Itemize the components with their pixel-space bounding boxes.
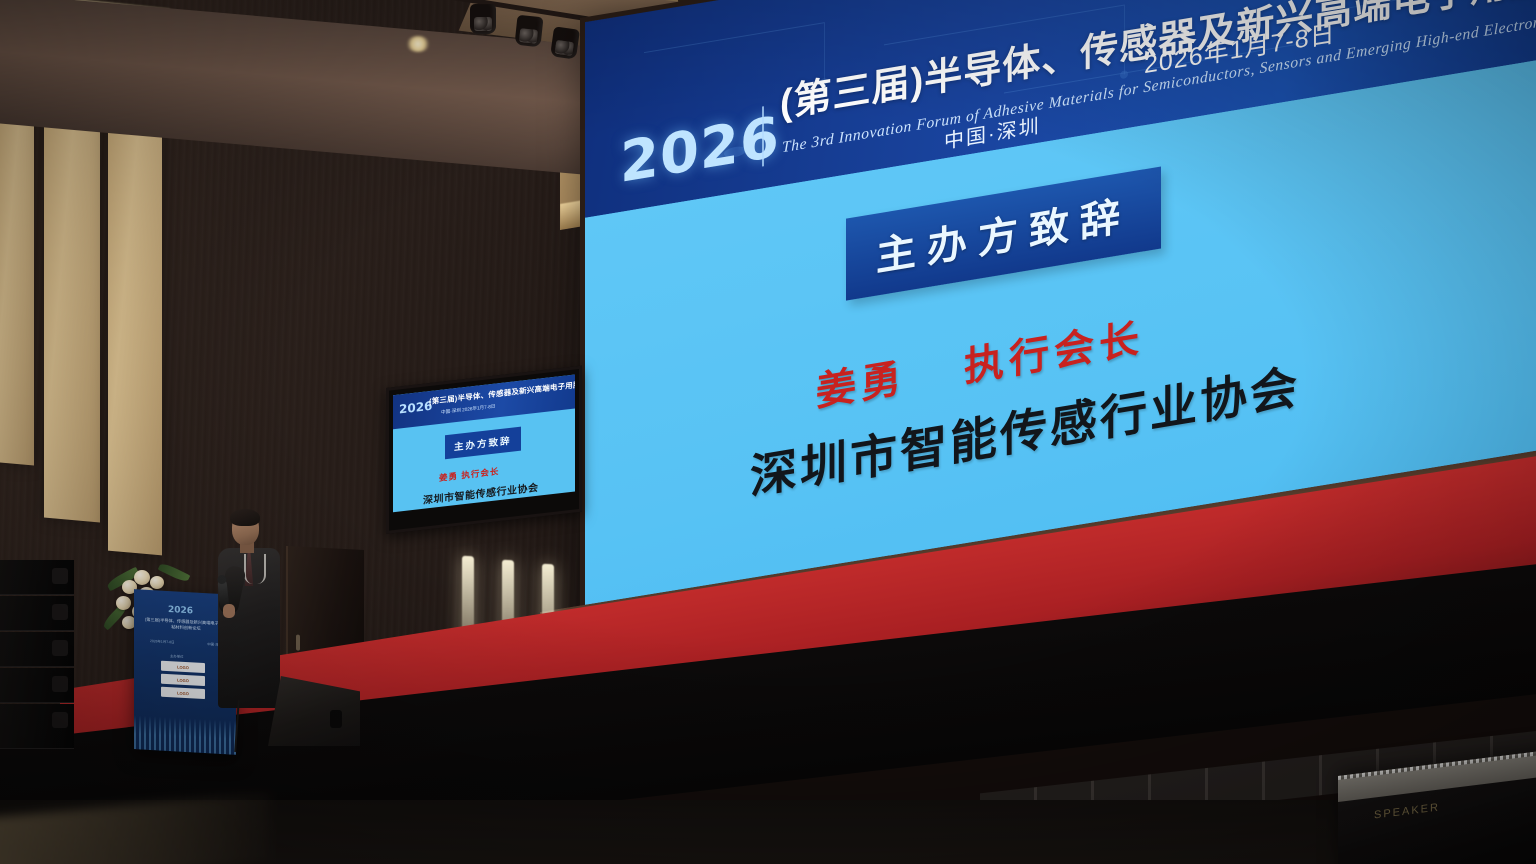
- stage-light-fixture: [515, 15, 544, 48]
- side-monitor-badge-label: 主办方致辞: [454, 436, 512, 454]
- slide-speaker-name: 姜勇: [816, 345, 906, 418]
- podium-meta: 2026年1月7-8日 中国·深圳: [150, 638, 222, 647]
- podium-sponsor-label: 主办单位: [170, 653, 184, 659]
- sponsor-logo: LOGO: [161, 687, 205, 699]
- banner-year: 2026: [620, 105, 780, 196]
- side-monitor-badge: 主办方致辞: [445, 427, 521, 460]
- side-monitor-display: 2026 (第三届)半导体、传感器及新兴高端电子用胶粘材料创新论坛 中国·深圳 …: [386, 366, 582, 534]
- banner-divider: [762, 106, 764, 166]
- side-monitor-speaker: 姜勇 执行会长: [439, 465, 499, 484]
- podium-meta-date: 2026年1月7-8日: [150, 638, 175, 644]
- conference-stage-photo: 2026 (第三届)半导体、传感器及新兴高端电子用胶粘材料创新论坛 The 3r…: [0, 0, 1536, 864]
- speaker-brand-badge: SPEAKER: [1374, 801, 1440, 821]
- door-handle-icon: [296, 634, 300, 650]
- monitor-wedge-handle-icon: [330, 710, 342, 728]
- presenter-lanyard: [244, 554, 266, 584]
- podium-sponsor-logos: LOGO LOGO LOGO: [161, 661, 205, 699]
- side-monitor-screen: 2026 (第三届)半导体、传感器及新兴高端电子用胶粘材料创新论坛 中国·深圳 …: [393, 374, 575, 512]
- presenter-hair: [230, 509, 260, 526]
- slide-badge: 主办方致辞: [846, 166, 1161, 300]
- stage-light-fixture: [550, 26, 580, 59]
- podium-year: 2026: [168, 605, 193, 616]
- downlight-icon: [406, 36, 430, 52]
- stage-light-fixture: [470, 4, 496, 34]
- sponsor-logo: LOGO: [161, 674, 205, 686]
- presenter-hand: [223, 604, 235, 618]
- slide-badge-label: 主办方致辞: [876, 193, 1131, 279]
- line-array-speaker-stack: [0, 560, 74, 750]
- sponsor-logo: LOGO: [161, 661, 205, 673]
